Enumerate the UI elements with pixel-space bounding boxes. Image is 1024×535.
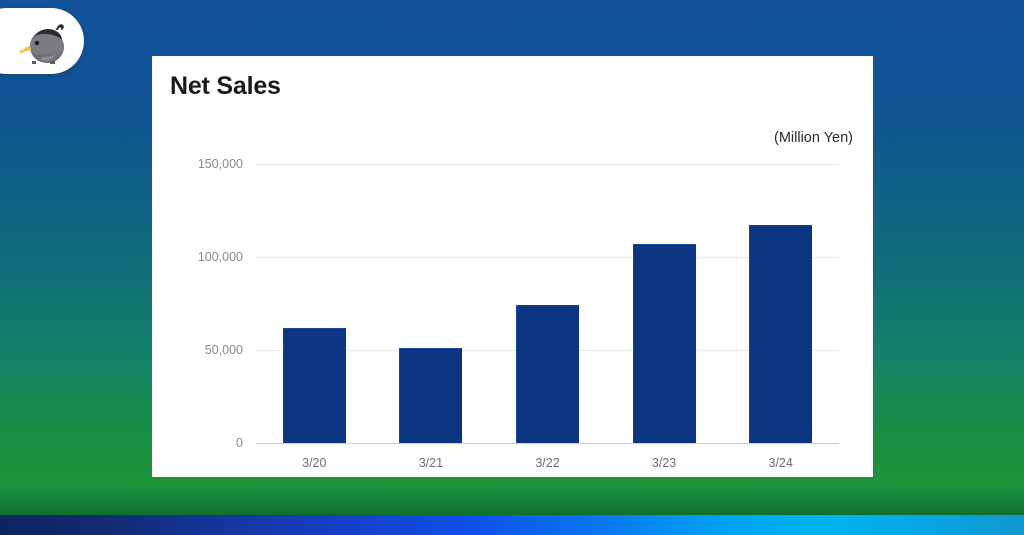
bar[interactable]: [516, 305, 579, 443]
gridline: [256, 443, 839, 444]
x-axis-tick-label: 3/24: [769, 456, 793, 470]
bar[interactable]: [749, 225, 812, 443]
background-green-band: [0, 487, 1024, 515]
chart-card: Net Sales (Million Yen) 050,000100,00015…: [152, 56, 873, 477]
logo-badge[interactable]: [0, 8, 84, 74]
bar-slot: 3/22: [489, 164, 606, 443]
plot-area: 050,000100,000150,000 3/203/213/223/233/…: [256, 164, 839, 443]
bar[interactable]: [399, 348, 462, 443]
bar[interactable]: [283, 328, 346, 443]
page-title: Net Sales: [170, 72, 281, 101]
x-axis-tick-label: 3/22: [535, 456, 559, 470]
bar-series: 3/203/213/223/233/24: [256, 164, 839, 443]
bar-slot: 3/24: [722, 164, 839, 443]
bar[interactable]: [633, 244, 696, 443]
y-axis-tick-label: 0: [236, 436, 243, 450]
background-accent-strip: [0, 515, 1024, 535]
bar-slot: 3/20: [256, 164, 373, 443]
bar-slot: 3/23: [606, 164, 723, 443]
y-axis-tick-label: 100,000: [198, 250, 243, 264]
y-axis-tick-label: 150,000: [198, 157, 243, 171]
x-axis-tick-label: 3/23: [652, 456, 676, 470]
bar-slot: 3/21: [373, 164, 490, 443]
unit-label: (Million Yen): [774, 130, 853, 146]
rhino-mascot-logo-icon: [16, 16, 68, 66]
y-axis-tick-label: 50,000: [205, 343, 243, 357]
x-axis-tick-label: 3/20: [302, 456, 326, 470]
x-axis-tick-label: 3/21: [419, 456, 443, 470]
